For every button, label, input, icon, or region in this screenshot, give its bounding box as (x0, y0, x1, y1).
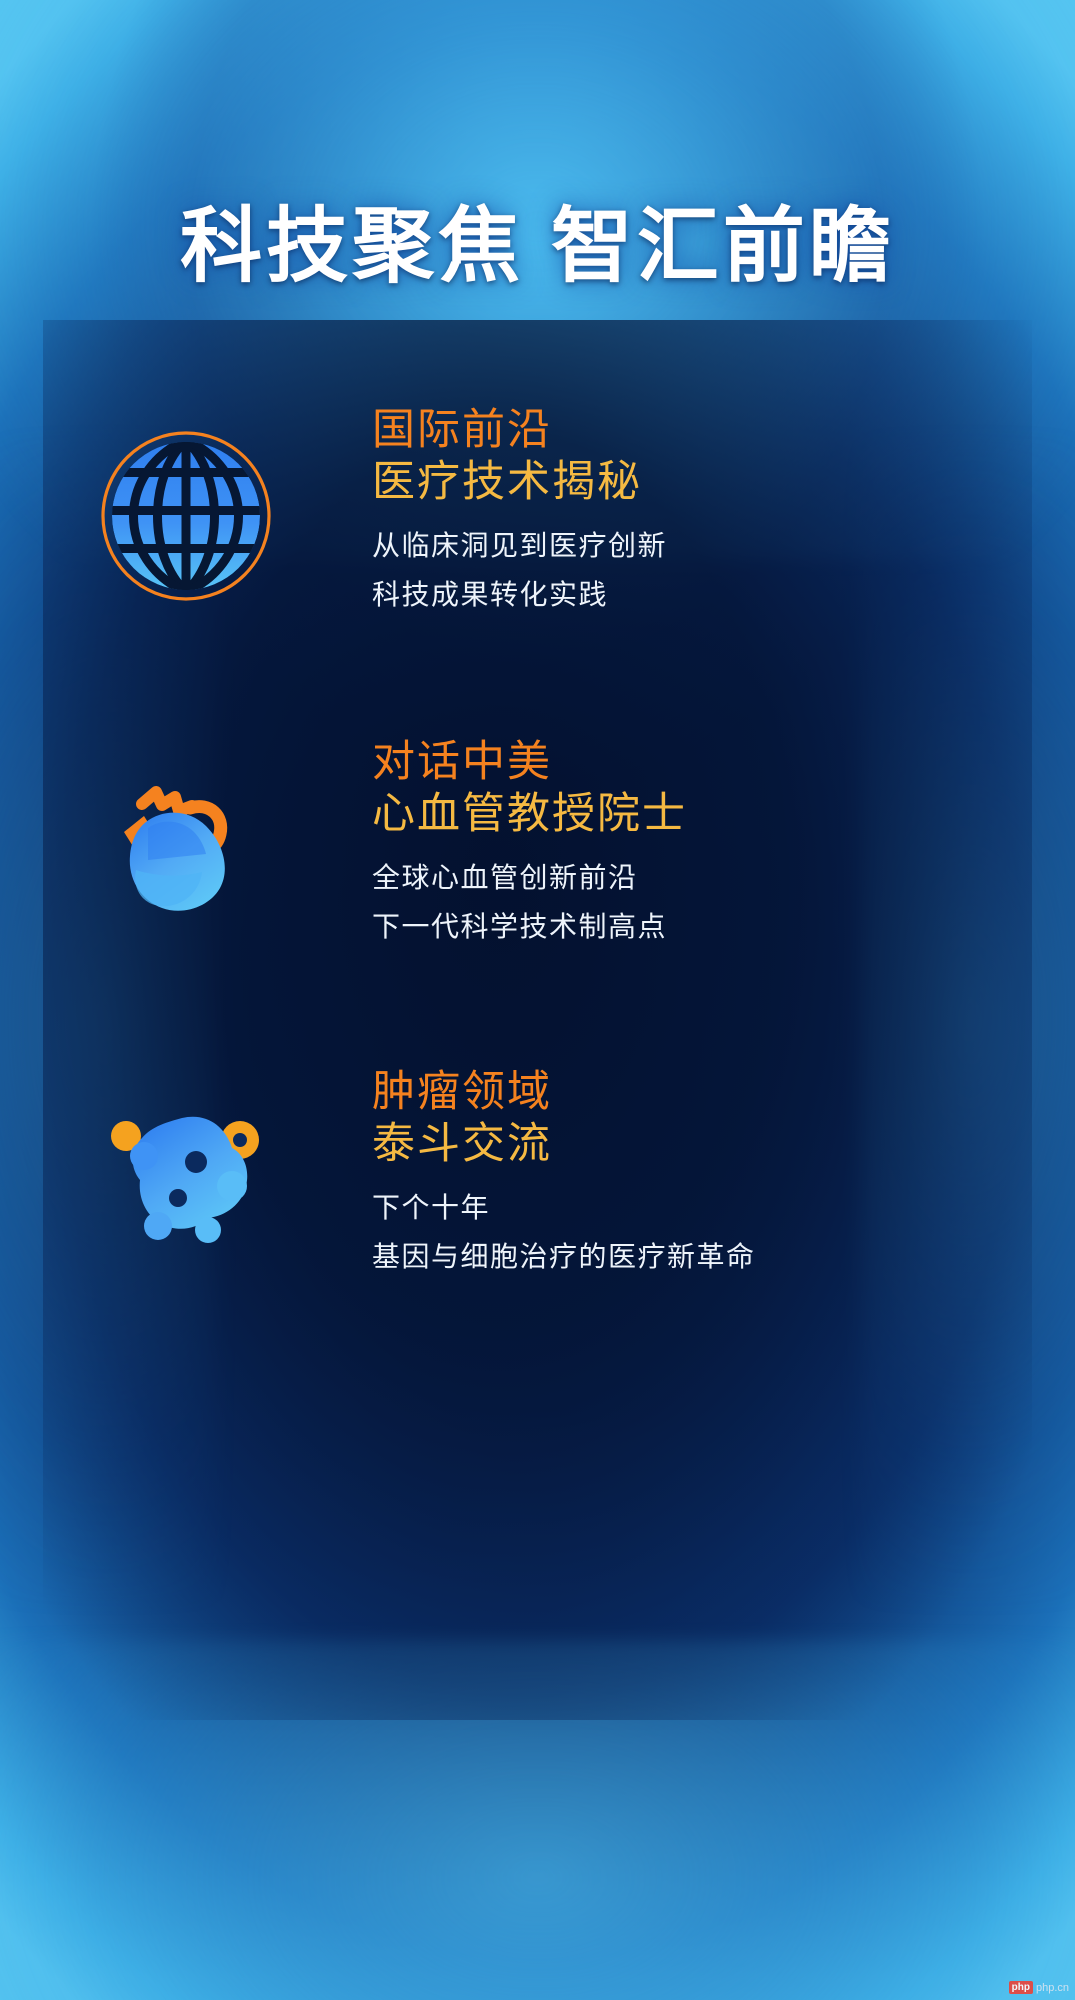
icon-column-1 (0, 398, 372, 616)
section-3-subtitle-1: 下个十年 (372, 1185, 1075, 1230)
content-section-1: 国际前沿 医疗技术揭秘 从临床洞见到医疗创新 科技成果转化实践 (0, 398, 1075, 618)
heart-icon (86, 748, 286, 948)
section-3-subtitle-2: 基因与细胞治疗的医疗新革命 (372, 1234, 1075, 1279)
section-3-headline-2: 泰斗交流 (372, 1118, 1075, 1170)
icon-column-3 (0, 1060, 372, 1278)
poster-title: 科技聚焦 智汇前瞻 (180, 206, 895, 288)
bottom-glow (0, 1640, 1075, 2000)
virus-cell-icon (86, 1078, 286, 1278)
watermark: php php.cn (1009, 1981, 1069, 1994)
section-1-headline-2: 医疗技术揭秘 (372, 456, 1075, 508)
watermark-badge: php (1009, 1981, 1033, 1994)
content-section-2: 对话中美 心血管教授院士 全球心血管创新前沿 下一代科学技术制高点 (0, 730, 1075, 950)
section-2-headline-2: 心血管教授院士 (372, 788, 1075, 840)
section-1-subtitle-1: 从临床洞见到医疗创新 (372, 523, 1075, 568)
globe-icon (86, 416, 286, 616)
poster-canvas: 科技聚焦 智汇前瞻 (0, 0, 1075, 2000)
title-container: 科技聚焦 智汇前瞻 (0, 206, 1075, 288)
text-column-1: 国际前沿 医疗技术揭秘 从临床洞见到医疗创新 科技成果转化实践 (372, 398, 1075, 618)
icon-column-2 (0, 730, 372, 948)
section-1-subtitle: 从临床洞见到医疗创新 科技成果转化实践 (372, 523, 1075, 618)
section-3-subtitle: 下个十年 基因与细胞治疗的医疗新革命 (372, 1185, 1075, 1280)
text-column-3: 肿瘤领域 泰斗交流 下个十年 基因与细胞治疗的医疗新革命 (372, 1060, 1075, 1280)
text-column-2: 对话中美 心血管教授院士 全球心血管创新前沿 下一代科学技术制高点 (372, 730, 1075, 950)
section-2-subtitle-1: 全球心血管创新前沿 (372, 855, 1075, 900)
section-2-subtitle: 全球心血管创新前沿 下一代科学技术制高点 (372, 855, 1075, 950)
section-2-headline-1: 对话中美 (372, 736, 1075, 788)
section-2-subtitle-2: 下一代科学技术制高点 (372, 904, 1075, 949)
section-3-headline-1: 肿瘤领域 (372, 1066, 1075, 1118)
section-1-subtitle-2: 科技成果转化实践 (372, 572, 1075, 617)
watermark-text: php.cn (1036, 1982, 1069, 1994)
content-section-3: 肿瘤领域 泰斗交流 下个十年 基因与细胞治疗的医疗新革命 (0, 1060, 1075, 1280)
section-1-headline-1: 国际前沿 (372, 404, 1075, 456)
